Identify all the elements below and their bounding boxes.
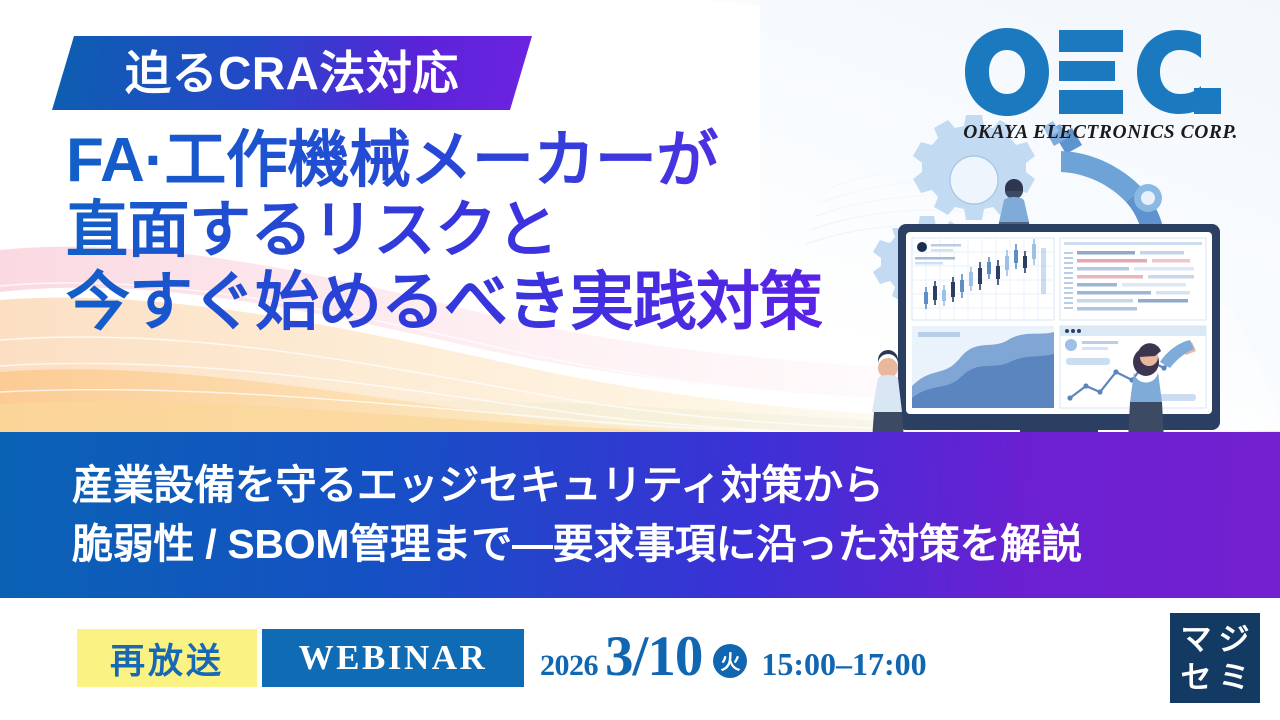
event-year: 2026 <box>540 649 598 683</box>
oec-logo-mark <box>963 26 1225 118</box>
dashboard-illustration <box>860 110 1280 440</box>
oec-logo: OKAYA ELECTRONICS CORP. <box>963 26 1238 144</box>
majisemi-logo: マ ジ セ ミ <box>1170 613 1260 703</box>
subtitle-band: 産業設備を守るエッジセキュリティ対策から 脆弱性 / SBOM管理まで―要求事項… <box>0 432 1280 598</box>
webinar-label: WEBINAR <box>299 638 488 678</box>
event-datetime: 2026 3/10 火 15:00–17:00 <box>540 624 927 692</box>
subtitle-text-group: 産業設備を守るエッジセキュリティ対策から 脆弱性 / SBOM管理まで―要求事項… <box>0 432 1280 598</box>
webinar-banner: 迫るCRA法対応 OKAYA ELECTRONICS CORP. FA·工作機械… <box>0 0 1280 720</box>
monitor <box>898 224 1220 438</box>
rebroadcast-label: 再放送 <box>110 633 224 684</box>
subtitle-line-2: 脆弱性 / SBOM管理まで―要求事項に沿った対策を解説 <box>72 515 1280 574</box>
footer: 再放送 WEBINAR 2026 3/10 火 15:00–17:00 マ ジ … <box>0 598 1280 720</box>
headline-line-2: 直面するリスクと <box>66 196 822 266</box>
subtitle-line-1: 産業設備を守るエッジセキュリティ対策から <box>72 456 1280 515</box>
webinar-badge: WEBINAR <box>262 629 524 687</box>
majisemi-line-1: マ <box>1181 624 1212 655</box>
cra-badge: 迫るCRA法対応 <box>52 36 532 110</box>
headline-line-1: FA·工作機械メーカーが <box>66 126 822 196</box>
event-month-day: 3/10 <box>605 624 702 689</box>
rebroadcast-badge: 再放送 <box>77 629 257 687</box>
event-time-range: 15:00–17:00 <box>761 646 926 683</box>
event-day-of-week-badge: 火 <box>713 644 747 678</box>
headline: FA·工作機械メーカーが 直面するリスクと 今すぐ始めるべき実践対策 <box>66 126 822 338</box>
cra-badge-label: 迫るCRA法対応 <box>125 50 459 96</box>
majisemi-line-2: セ <box>1181 662 1212 693</box>
oec-company-name: OKAYA ELECTRONICS CORP. <box>963 122 1238 144</box>
headline-line-3: 今すぐ始めるべき実践対策 <box>66 266 822 338</box>
